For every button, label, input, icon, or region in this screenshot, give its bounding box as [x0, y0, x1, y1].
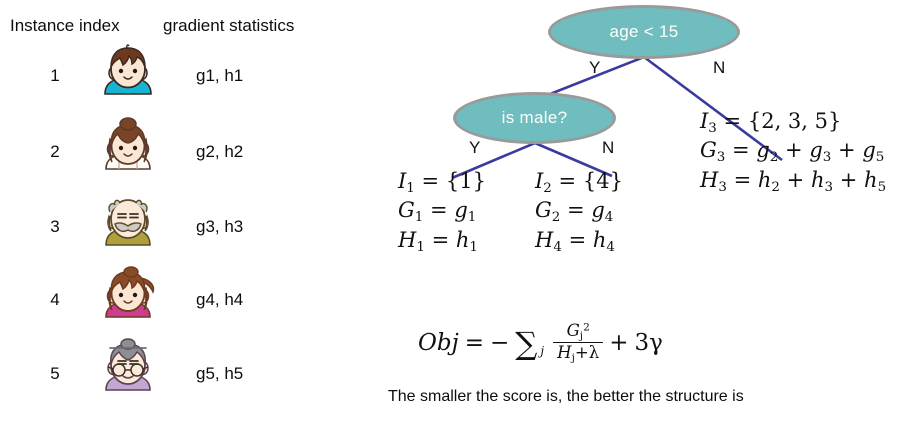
diagram-canvas: Instance index gradient statistics 1 g1,… [0, 0, 920, 421]
leaf-3-gradient-sum: G3 = g2 + g3 + g5 [700, 137, 886, 166]
boy-teal-shirt-icon [97, 42, 159, 104]
table-row-index: 3 [40, 217, 70, 237]
table-row-stats: g5, h5 [196, 364, 243, 384]
tree-node-root[interactable]: age < 15 [548, 5, 740, 59]
old-man-mustache-olive-shirt-icon [97, 192, 159, 254]
tree-node-is-male[interactable]: is male? [453, 92, 616, 144]
objective-fraction: Gj2 Hj+λ [553, 322, 603, 364]
table-row-stats: g2, h2 [196, 142, 243, 162]
objective-minus: − [490, 328, 509, 358]
table-row-index: 4 [40, 290, 70, 310]
edge-label-ismale-no: N [602, 138, 614, 158]
table-row-stats: g3, h3 [196, 217, 243, 237]
table-row-index: 1 [40, 66, 70, 86]
table-row-index: 5 [40, 364, 70, 384]
summation-icon: ∑ [515, 332, 537, 357]
objective-numerator: Gj2 [553, 322, 603, 342]
edge-label-root-yes: Y [589, 58, 600, 78]
edge-label-ismale-yes: Y [469, 138, 480, 158]
objective-equals: = [465, 328, 484, 358]
table-row-index: 2 [40, 142, 70, 162]
objective-lhs: Obj [418, 328, 459, 358]
leaf-3-statistics: I3 = {2, 3, 5} G3 = g2 + g3 + g5 H3 = h2… [700, 108, 886, 196]
caption-text: The smaller the score is, the better the… [388, 388, 744, 406]
tree-node-root-label: age < 15 [609, 22, 678, 42]
leaf-3-hessian-sum: H3 = h2 + h3 + h5 [700, 167, 886, 196]
column-header-gradient-statistics: gradient statistics [163, 16, 294, 36]
leaf-1-statistics: I1 = {1} G1 = g1 H1 = h1 [398, 168, 486, 256]
leaf-1-gradient-sum: G1 = g1 [398, 197, 486, 226]
objective-plus: + [609, 328, 628, 358]
leaf-3-instance-set: I3 = {2, 3, 5} [700, 108, 886, 137]
leaf-2-statistics: I2 = {4} G2 = g4 H4 = h4 [535, 168, 623, 256]
leaf-1-hessian-sum: H1 = h1 [398, 227, 486, 256]
objective-denominator: Hj+λ [553, 342, 603, 364]
edge-label-root-no: N [713, 58, 725, 78]
table-row-stats: g1, h1 [196, 66, 243, 86]
leaf-1-instance-set: I1 = {1} [398, 168, 486, 197]
girl-ponytail-pink-shirt-icon [97, 264, 159, 326]
column-header-instance-index: Instance index [10, 16, 120, 36]
leaf-2-gradient-sum: G2 = g4 [535, 197, 623, 226]
leaf-2-instance-set: I2 = {4} [535, 168, 623, 197]
table-row-stats: g4, h4 [196, 290, 243, 310]
leaf-2-hessian-sum: H4 = h4 [535, 227, 623, 256]
tree-node-is-male-label: is male? [502, 108, 568, 128]
girl-bun-white-top-icon [97, 117, 159, 179]
old-woman-glasses-lavender-shirt-icon [97, 337, 159, 399]
summation-subscript: j [540, 344, 544, 360]
objective-formula: Obj = − ∑j Gj2 Hj+λ + 3γ [418, 322, 663, 364]
objective-regularization-term: 3γ [635, 328, 663, 358]
